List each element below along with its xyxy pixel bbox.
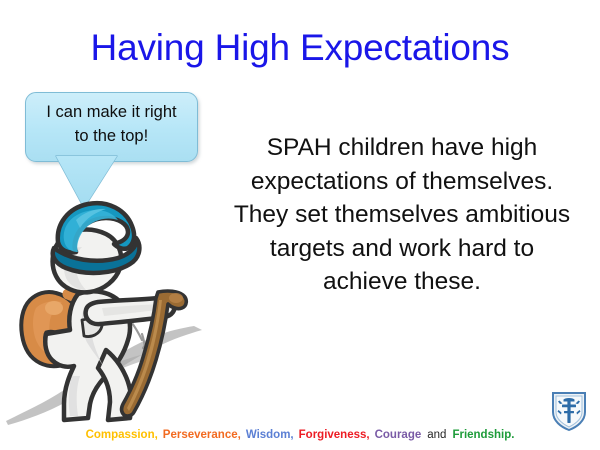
value-wisdom: Wisdom,	[246, 429, 294, 441]
value-compassion: Compassion,	[86, 429, 158, 441]
footer-values: Compassion,Perseverance,Wisdom,Forgivene…	[0, 428, 600, 442]
hiker-illustration	[6, 190, 220, 425]
page-title: Having High Expectations	[0, 26, 600, 70]
speech-bubble-text: I can make it right to the top!	[25, 100, 198, 148]
value-friendship: Friendship.	[452, 429, 514, 441]
speech-bubble-line-1: I can make it right	[25, 100, 198, 124]
value-courage: Courage	[375, 429, 422, 441]
body-paragraph: SPAH children have high expectations of …	[228, 131, 576, 299]
value-forgiveness: Forgiveness,	[299, 429, 370, 441]
slide: Having High Expectations I can make it r…	[0, 0, 600, 450]
value-perseverance: Perseverance,	[163, 429, 241, 441]
speech-bubble-line-2: to the top!	[25, 124, 198, 148]
footer-conjunction: and	[426, 429, 447, 441]
school-crest-icon	[550, 390, 588, 432]
